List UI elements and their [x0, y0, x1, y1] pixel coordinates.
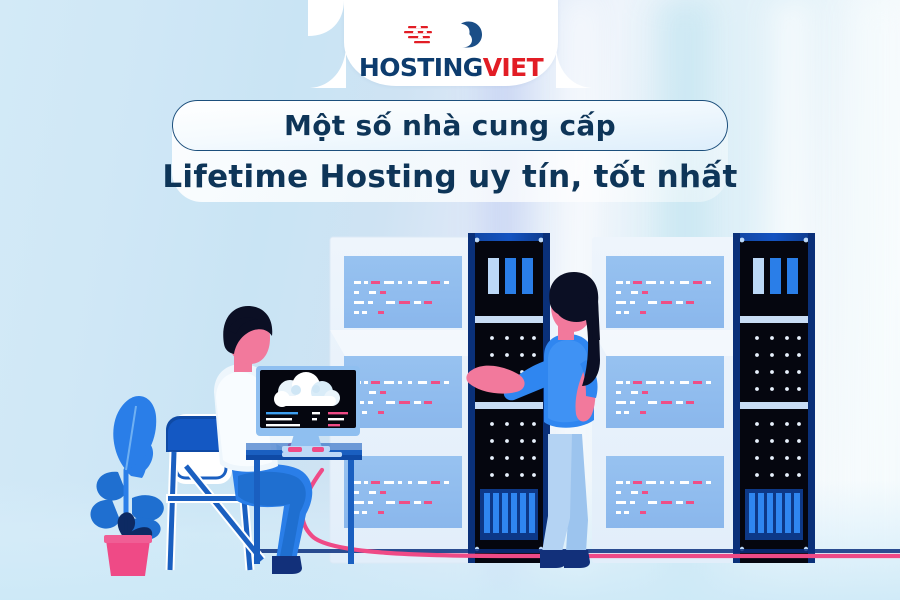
illustration-data-center-scene [0, 0, 900, 600]
potted-plant [90, 396, 163, 576]
headline-line-1: Một số nhà cung cấp [284, 109, 616, 142]
headline-line-2: Lifetime Hosting uy tín, tốt nhất [162, 159, 737, 195]
banner-stage: HOSTINGVIET Một số nhà cung cấp Lifetime… [0, 0, 900, 600]
brand-wordmark: HOSTINGVIET [359, 55, 543, 80]
brand-logo[interactable]: HOSTINGVIET [344, 14, 558, 80]
brand-name-part-2: VIET [483, 53, 543, 82]
headline-pill: Một số nhà cung cấp [172, 100, 728, 151]
headline-block: Một số nhà cung cấp Lifetime Hosting uy … [172, 100, 728, 202]
headline-line-2-row: Lifetime Hosting uy tín, tốt nhất [172, 151, 728, 202]
wall-screen-panels-right [592, 237, 738, 563]
server-rack-right [733, 233, 815, 563]
cloud-speed-icon [402, 14, 500, 53]
brand-name-part-1: HOSTING [359, 53, 483, 82]
